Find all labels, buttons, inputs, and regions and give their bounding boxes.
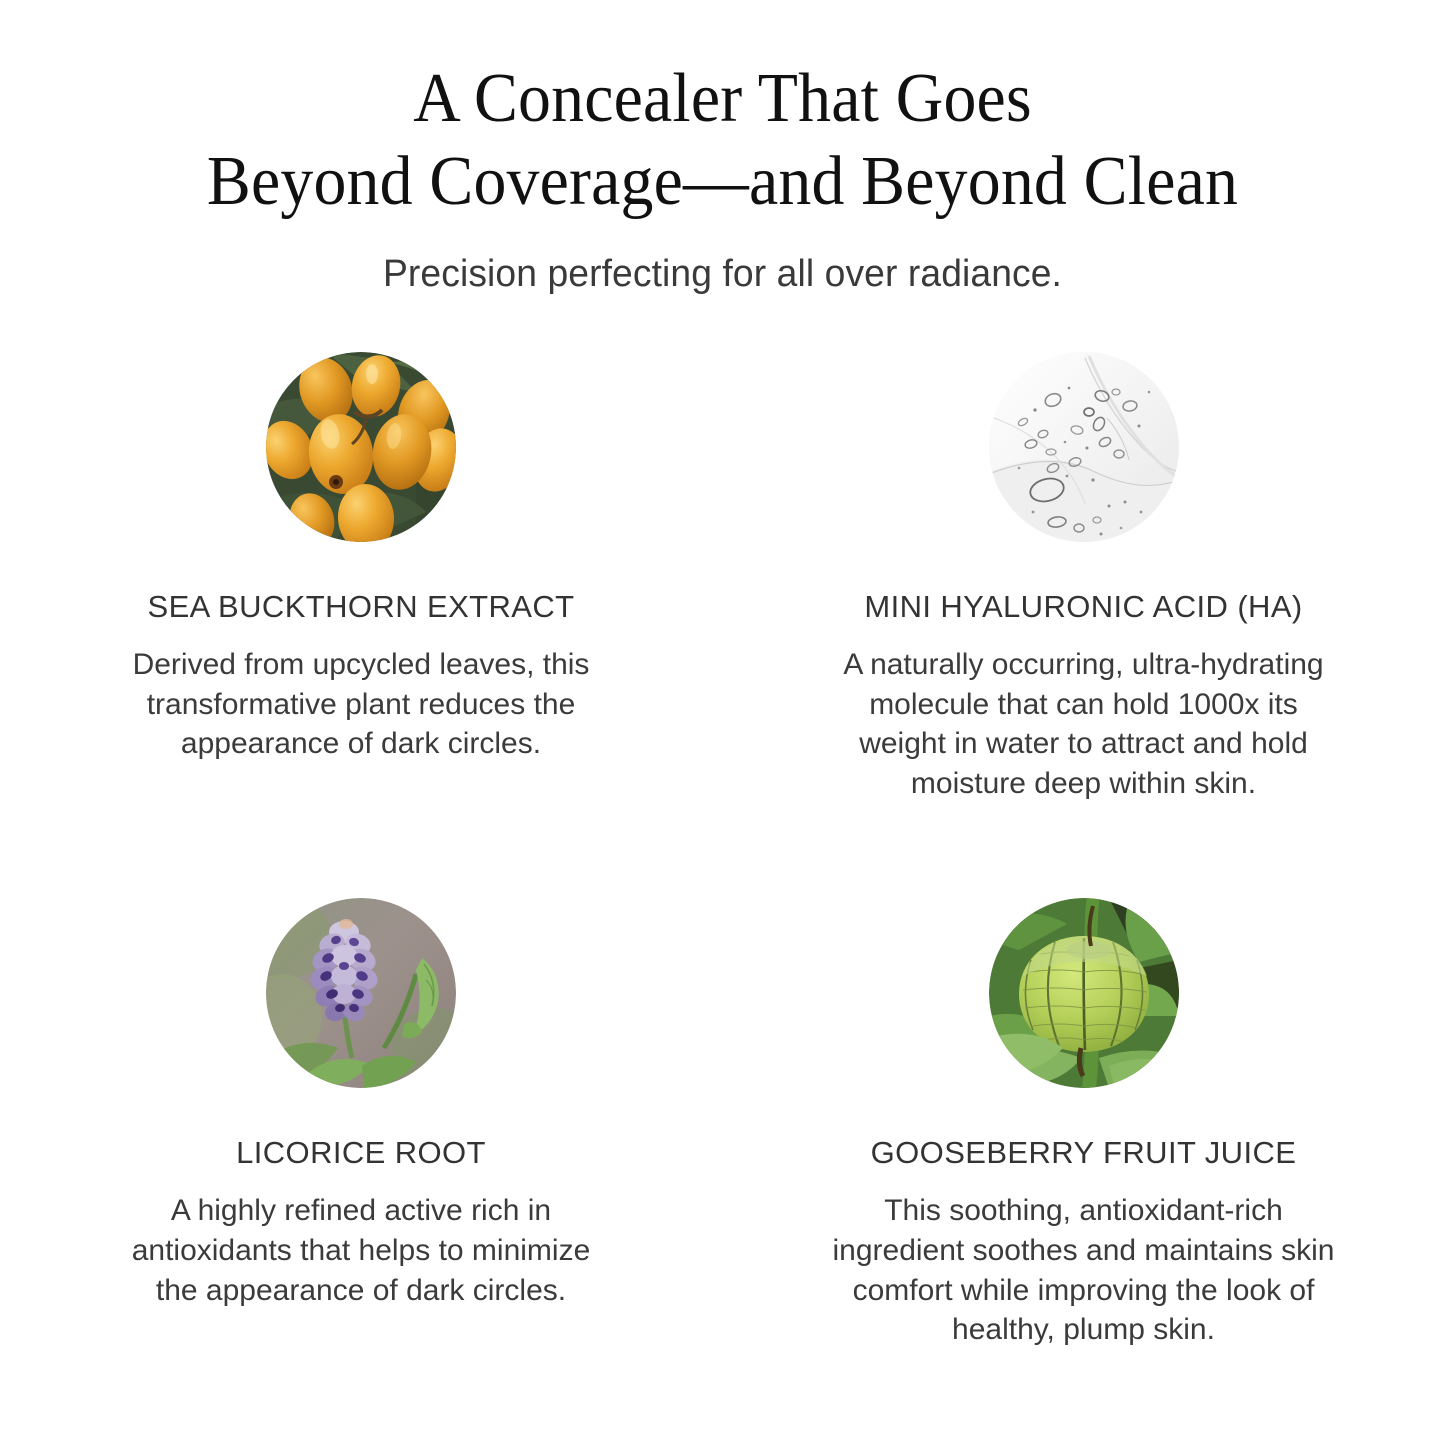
ingredient-card-licorice-root: LICORICE ROOT A highly refined active ri… xyxy=(0,898,722,1349)
licorice-root-flower-photo xyxy=(266,898,456,1088)
ingredient-description: A naturally occurring, ultra-hydrating m… xyxy=(824,645,1344,803)
ingredient-grid: SEA BUCKTHORN EXTRACT Derived from upcyc… xyxy=(0,352,1445,1350)
page-title: A Concealer That Goes Beyond Coverage—an… xyxy=(43,58,1401,223)
gooseberry-fruit-husk-photo xyxy=(989,898,1179,1088)
ingredient-description: Derived from upcycled leaves, this trans… xyxy=(111,645,611,764)
headline-line-1: A Concealer That Goes xyxy=(43,58,1401,141)
ingredient-title: GOOSEBERRY FRUIT JUICE xyxy=(871,1135,1297,1171)
ingredient-card-gooseberry: GOOSEBERRY FRUIT JUICE This soothing, an… xyxy=(722,898,1445,1349)
sea-buckthorn-berries-photo xyxy=(266,352,456,542)
ingredient-description: This soothing, antioxidant-rich ingredie… xyxy=(824,1191,1344,1349)
page-subtitle: Precision perfecting for all over radian… xyxy=(14,253,1430,296)
ingredient-card-sea-buckthorn: SEA BUCKTHORN EXTRACT Derived from upcyc… xyxy=(0,352,722,803)
hyaluronic-acid-gel-texture-photo xyxy=(989,352,1179,542)
ingredient-title: MINI HYALURONIC ACID (HA) xyxy=(864,589,1302,625)
ingredient-card-hyaluronic-acid: MINI HYALURONIC ACID (HA) A naturally oc… xyxy=(722,352,1445,803)
ingredient-title: LICORICE ROOT xyxy=(236,1135,486,1171)
ingredient-title: SEA BUCKTHORN EXTRACT xyxy=(148,589,575,625)
ingredient-description: A highly refined active rich in antioxid… xyxy=(111,1191,611,1310)
headline-line-2: Beyond Coverage—and Beyond Clean xyxy=(43,141,1401,224)
ingredient-benefits-infographic: A Concealer That Goes Beyond Coverage—an… xyxy=(0,0,1445,1445)
header: A Concealer That Goes Beyond Coverage—an… xyxy=(0,58,1445,296)
